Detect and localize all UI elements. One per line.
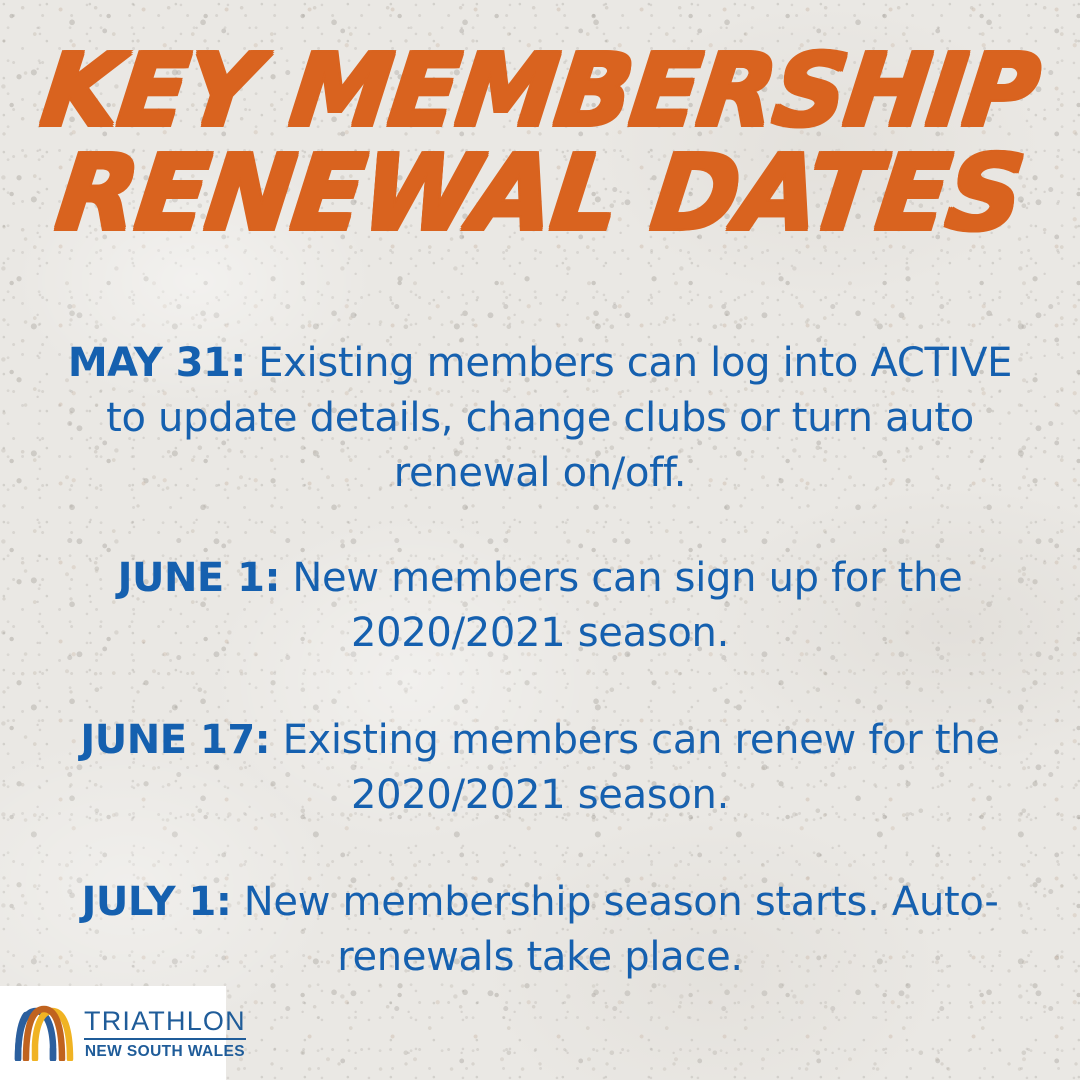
triathlon-nsw-logo: TRIATHLON NEW SOUTH WALES	[0, 986, 226, 1080]
date-text-july-1: New membership season starts. Auto-renew…	[231, 879, 998, 980]
date-item-may-31: MAY 31: Existing members can log into AC…	[50, 336, 1030, 501]
logo-text-group: TRIATHLON NEW SOUTH WALES	[84, 1006, 246, 1060]
date-text-june-1: New members can sign up for the 2020/202…	[280, 555, 962, 656]
date-item-june-17: JUNE 17: Existing members can renew for …	[50, 713, 1030, 823]
poster-title: KEY MEMBERSHIP RENEWAL DATES	[0, 40, 1080, 244]
key-dates-list: MAY 31: Existing members can log into AC…	[50, 336, 1030, 985]
title-line-2: RENEWAL DATES	[0, 142, 1080, 244]
triathlon-arches-icon	[12, 1005, 76, 1061]
logo-wordmark: TRIATHLON	[84, 1006, 246, 1036]
date-label-june-17: JUNE 17:	[80, 717, 270, 763]
date-label-june-1: JUNE 1:	[118, 555, 280, 601]
poster-canvas: KEY MEMBERSHIP RENEWAL DATES MAY 31: Exi…	[0, 0, 1080, 1080]
date-text-june-17: Existing members can renew for the 2020/…	[270, 717, 999, 818]
title-line-1: KEY MEMBERSHIP	[0, 40, 1080, 142]
date-item-july-1: JULY 1: New membership season starts. Au…	[50, 875, 1030, 985]
logo-subtitle: NEW SOUTH WALES	[84, 1043, 246, 1060]
date-label-july-1: JULY 1:	[82, 879, 232, 925]
date-label-may-31: MAY 31:	[68, 340, 246, 386]
date-item-june-1: JUNE 1: New members can sign up for the …	[50, 551, 1030, 661]
logo-divider-rule	[84, 1038, 246, 1040]
